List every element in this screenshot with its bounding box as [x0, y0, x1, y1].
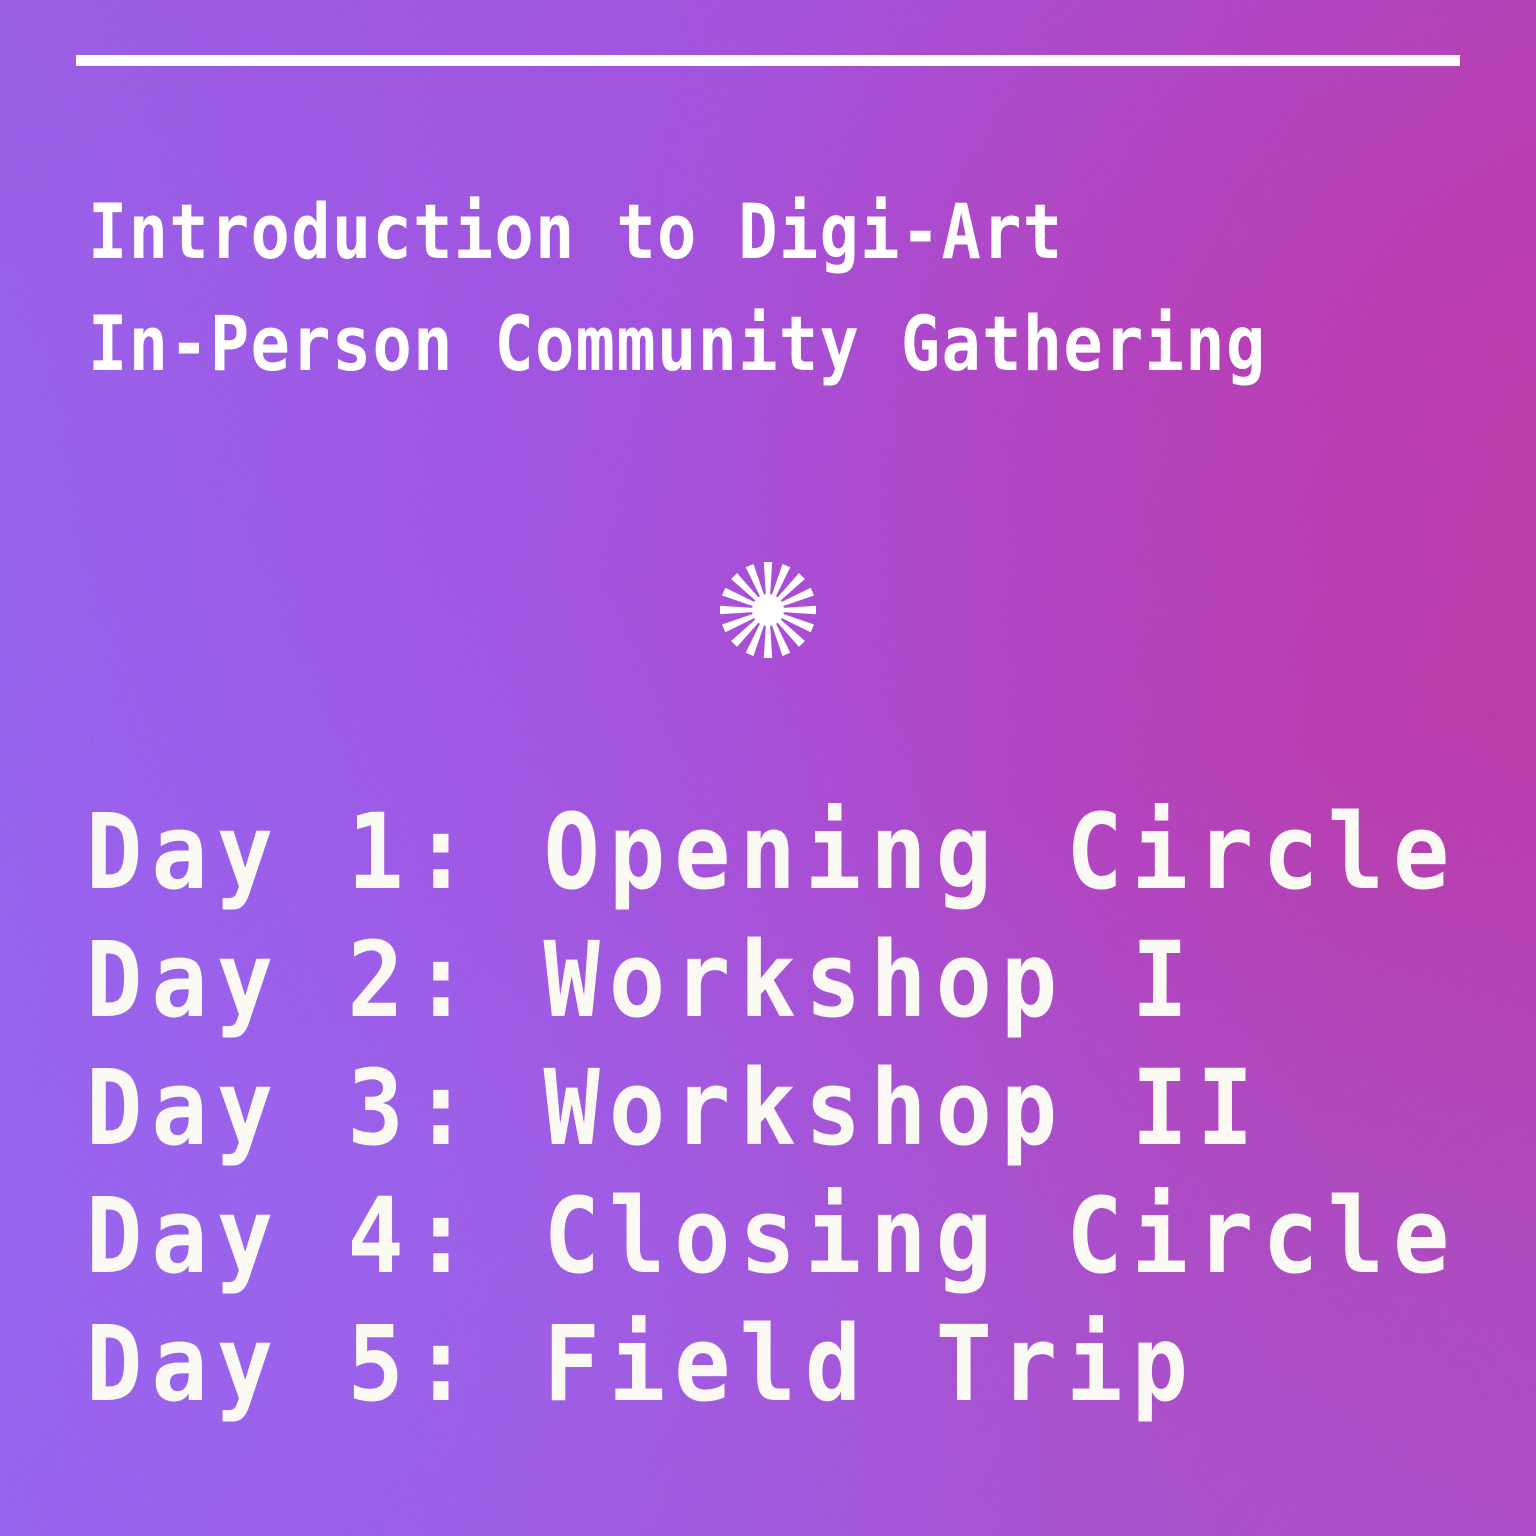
agenda-row-day-3: Day 3: Workshop II: [86, 1044, 1391, 1172]
headline-line-2: In-Person Community Gathering: [88, 288, 1292, 400]
agenda-list: Day 1: Opening Circle Day 2: Workshop I …: [86, 788, 1391, 1428]
event-schedule-poster: Introduction to Digi-Art In-Person Commu…: [0, 0, 1536, 1536]
headline-line-1: Introduction to Digi-Art: [88, 176, 1292, 288]
top-divider-rule: [76, 55, 1460, 66]
poster-headline: Introduction to Digi-Art In-Person Commu…: [88, 176, 1292, 400]
agenda-row-day-4: Day 4: Closing Circle: [86, 1172, 1391, 1300]
agenda-row-day-1: Day 1: Opening Circle: [86, 788, 1391, 916]
agenda-row-day-2: Day 2: Workshop I: [86, 916, 1391, 1044]
starburst-icon: [718, 560, 818, 660]
agenda-row-day-5: Day 5: Field Trip: [86, 1300, 1391, 1428]
